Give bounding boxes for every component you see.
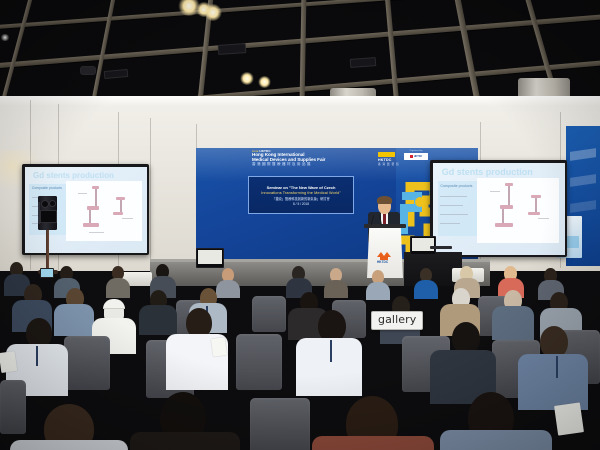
seminar-title-line1: Seminar on "The New Wave of Czech [267,185,336,190]
seminar-photo: Asia HKTDC Hong Kong International Medic… [0,0,600,450]
pa-loudspeaker [38,196,57,230]
organiser-caption: Organised by [404,150,428,152]
podium-logo: HKTDC [376,250,394,262]
slide-sidebar-left: Composite products [32,186,62,190]
ceiling-spotlight [240,72,254,85]
attendee-torso [106,278,130,298]
seminar-title-panel: Seminar on "The New Wave of Czech Innova… [248,176,354,214]
chair [250,398,310,450]
phone-screen [40,268,54,278]
confidence-monitor [196,248,224,268]
seminar-title-chinese: 「捷克」醫療科技創新的新氣象」研討會 [272,196,329,201]
chair [236,334,282,390]
attendee-torso [366,282,390,300]
podium: HKTDC [364,224,406,282]
attendee-torso [492,306,534,340]
slide-title-right: Gd stents production [442,167,533,177]
hktdc-logo: HKTDC 香 港 貿 發 局 [378,152,400,166]
chair [64,336,110,390]
organiser-mark-icon [410,155,413,158]
attendee-torso [414,280,438,299]
svg-text:HKTDC: HKTDC [377,260,389,263]
speaker-stand [46,230,49,272]
attendee-torso [296,338,362,396]
seminar-title-line2: Innovations Transforming the Medical Wor… [261,191,341,195]
projection-screen-right: Gd stents production Composite products [430,160,567,257]
attendee-torso [440,430,552,450]
attendee-torso [324,280,348,298]
prayer-cap [103,299,125,309]
speaker-hair [377,196,392,204]
fair-title-chinese: 香 港 國 際 醫 療 器 材 及 用 品 展 [252,163,347,167]
organiser-block: Organised by HKTDC [404,150,428,160]
ceiling-spotlight [204,4,222,21]
chair [0,380,26,434]
chair [252,296,286,332]
attendee-torso [54,304,94,336]
attendee-torso [216,280,240,298]
ceiling-spotlight [258,76,271,88]
gallery-tooltip[interactable]: gallery [371,311,423,330]
av-laptop [430,246,452,249]
attendee-torso [139,305,177,335]
hktdc-logo-bar [378,152,395,157]
fair-title-block: Asia HKTDC Hong Kong International Medic… [252,150,347,167]
attendee-torso [312,436,434,450]
attendee-torso [10,440,128,450]
slide-sidebar-right: Composite products [440,184,472,188]
organiser-brand: HKTDC [414,155,422,158]
slide-title-left: Gd stents production [33,171,114,180]
seminar-date: 8 / 5 / 2018 [293,202,309,206]
attendee-torso [130,432,240,450]
hktdc-logo-chinese: 香 港 貿 發 局 [378,162,400,166]
